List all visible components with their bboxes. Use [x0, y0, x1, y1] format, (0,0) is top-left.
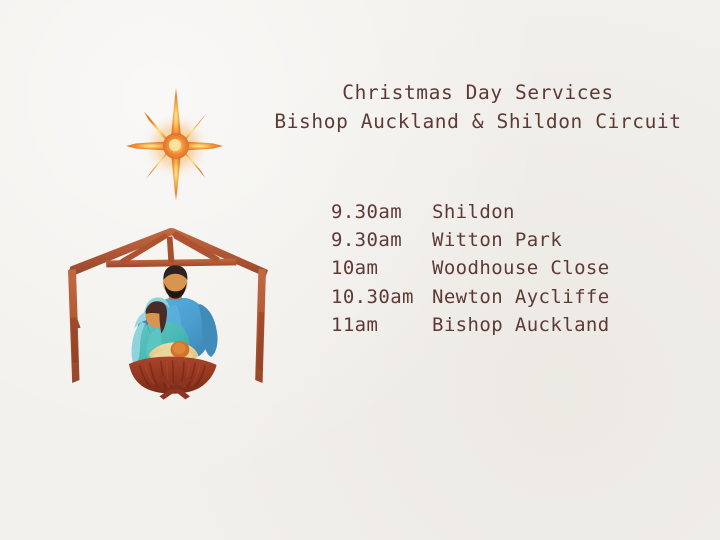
- page-title: Christmas Day Services Bishop Auckland &…: [250, 78, 706, 136]
- christmas-services-poster: Christmas Day Services Bishop Auckland &…: [0, 0, 720, 540]
- service-place: Shildon: [432, 198, 515, 226]
- title-line-1: Christmas Day Services: [250, 78, 706, 107]
- service-place: Woodhouse Close: [432, 254, 610, 282]
- service-place: Newton Aycliffe: [432, 283, 610, 311]
- service-place: Witton Park: [432, 226, 562, 254]
- service-time: 9.30am: [331, 226, 432, 254]
- title-line-2: Bishop Auckland & Shildon Circuit: [250, 107, 706, 136]
- list-item: 10amWoodhouse Close: [331, 254, 610, 282]
- service-place: Bishop Auckland: [432, 311, 610, 339]
- services-list: 9.30amShildon 9.30amWitton Park 10amWood…: [331, 198, 610, 339]
- service-time: 10.30am: [331, 283, 432, 311]
- list-item: 11amBishop Auckland: [331, 311, 610, 339]
- service-time: 9.30am: [331, 198, 432, 226]
- manger-straw: [129, 357, 217, 400]
- service-time: 11am: [331, 311, 432, 339]
- list-item: 9.30amWitton Park: [331, 226, 610, 254]
- star-of-bethlehem-icon: [126, 88, 223, 200]
- list-item: 9.30amShildon: [331, 198, 610, 226]
- list-item: 10.30amNewton Aycliffe: [331, 283, 610, 311]
- service-time: 10am: [331, 254, 432, 282]
